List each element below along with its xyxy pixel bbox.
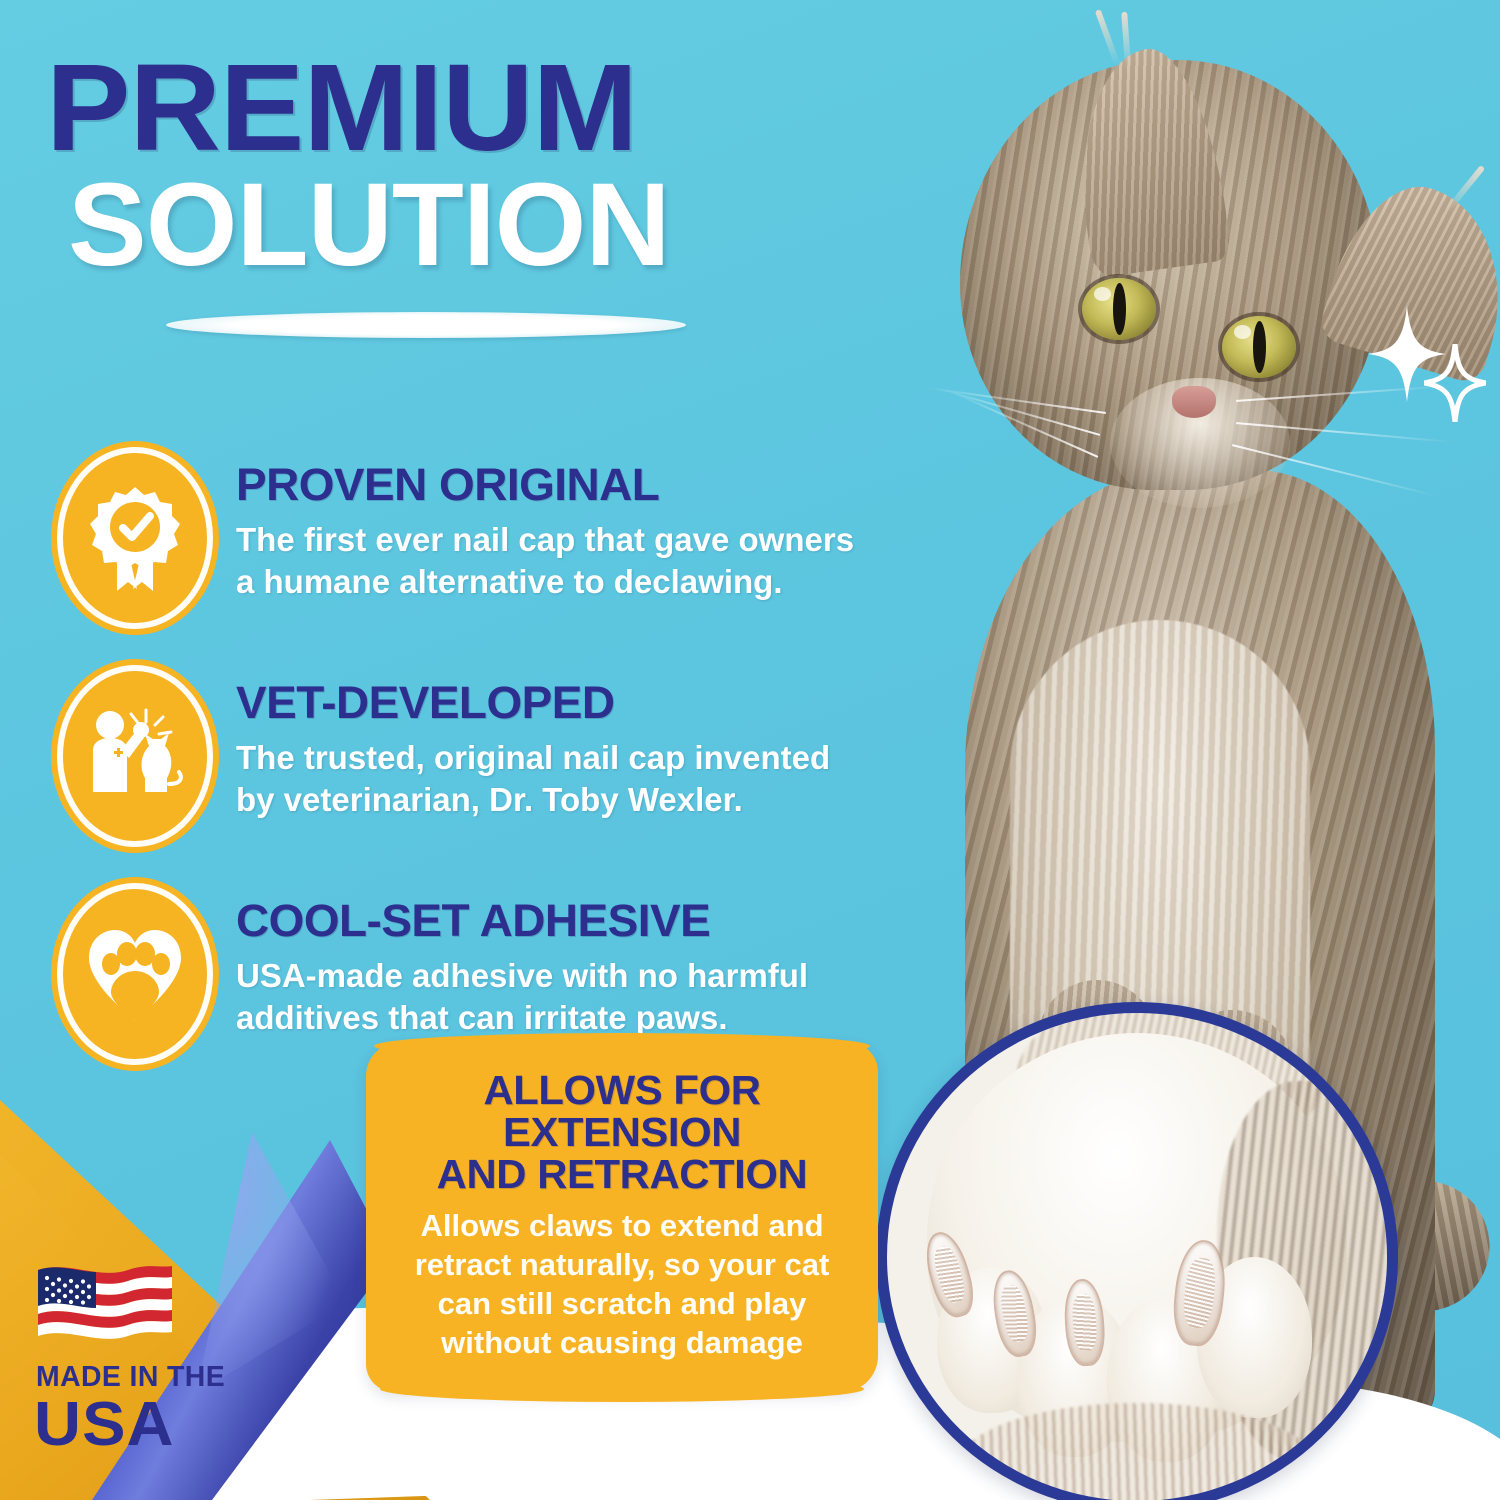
feature-item: VET-DEVELOPED The trusted, original nail… (56, 670, 876, 842)
feature-item: PROVEN ORIGINAL The first ever nail cap … (56, 452, 876, 624)
headline-line-2: SOLUTION (46, 171, 866, 280)
feature-text: VET-DEVELOPED The trusted, original nail… (236, 670, 876, 821)
cat-paw-closeup-inset (876, 1002, 1398, 1500)
feature-text: PROVEN ORIGINAL The first ever nail cap … (236, 452, 876, 603)
callout-body: Allows claws to extend and retract natur… (392, 1206, 852, 1362)
feature-body: USA-made adhesive with no harmful additi… (236, 955, 876, 1039)
cat-ear-left (1063, 41, 1232, 278)
feature-text: COOL-SET ADHESIVE USA-made adhesive with… (236, 888, 876, 1039)
page-title: PREMIUM SOLUTION (46, 52, 866, 280)
vet-high-five-cat-icon (56, 670, 214, 842)
feature-body: The first ever nail cap that gave owners… (236, 519, 876, 603)
feature-title: PROVEN ORIGINAL (236, 462, 889, 507)
callout-title-line-1: ALLOWS FOR EXTENSION (483, 1067, 760, 1155)
extension-retraction-callout: ALLOWS FOR EXTENSION AND RETRACTION Allo… (366, 1042, 878, 1392)
product-infographic-poster: PREMIUM SOLUTION PROVEN ORIGINAL The fir… (0, 0, 1500, 1500)
made-in-usa-line-1: MADE IN THE (36, 1363, 269, 1392)
title-underline-swoosh (166, 312, 686, 338)
feature-title: COOL-SET ADHESIVE (236, 898, 889, 943)
feature-body: The trusted, original nail cap invented … (236, 737, 876, 821)
usa-flag-icon (34, 1258, 176, 1342)
sparkle-star-icon (1424, 344, 1486, 422)
cat-eye-left (1082, 278, 1156, 340)
made-in-usa-line-2: USA (34, 1394, 286, 1456)
cat-nose (1172, 386, 1216, 418)
feature-title: VET-DEVELOPED (236, 680, 889, 725)
award-ribbon-icon (56, 452, 214, 624)
callout-title: ALLOWS FOR EXTENSION AND RETRACTION (387, 1070, 856, 1195)
cat-head (960, 60, 1380, 490)
cat-eye-right (1222, 316, 1296, 378)
feature-list: PROVEN ORIGINAL The first ever nail cap … (56, 452, 876, 1106)
callout-title-line-2: AND RETRACTION (437, 1151, 808, 1197)
headline-line-1: PREMIUM (46, 52, 891, 165)
made-in-usa-badge: MADE IN THE USA (34, 1258, 274, 1456)
heart-paw-icon (56, 888, 214, 1060)
